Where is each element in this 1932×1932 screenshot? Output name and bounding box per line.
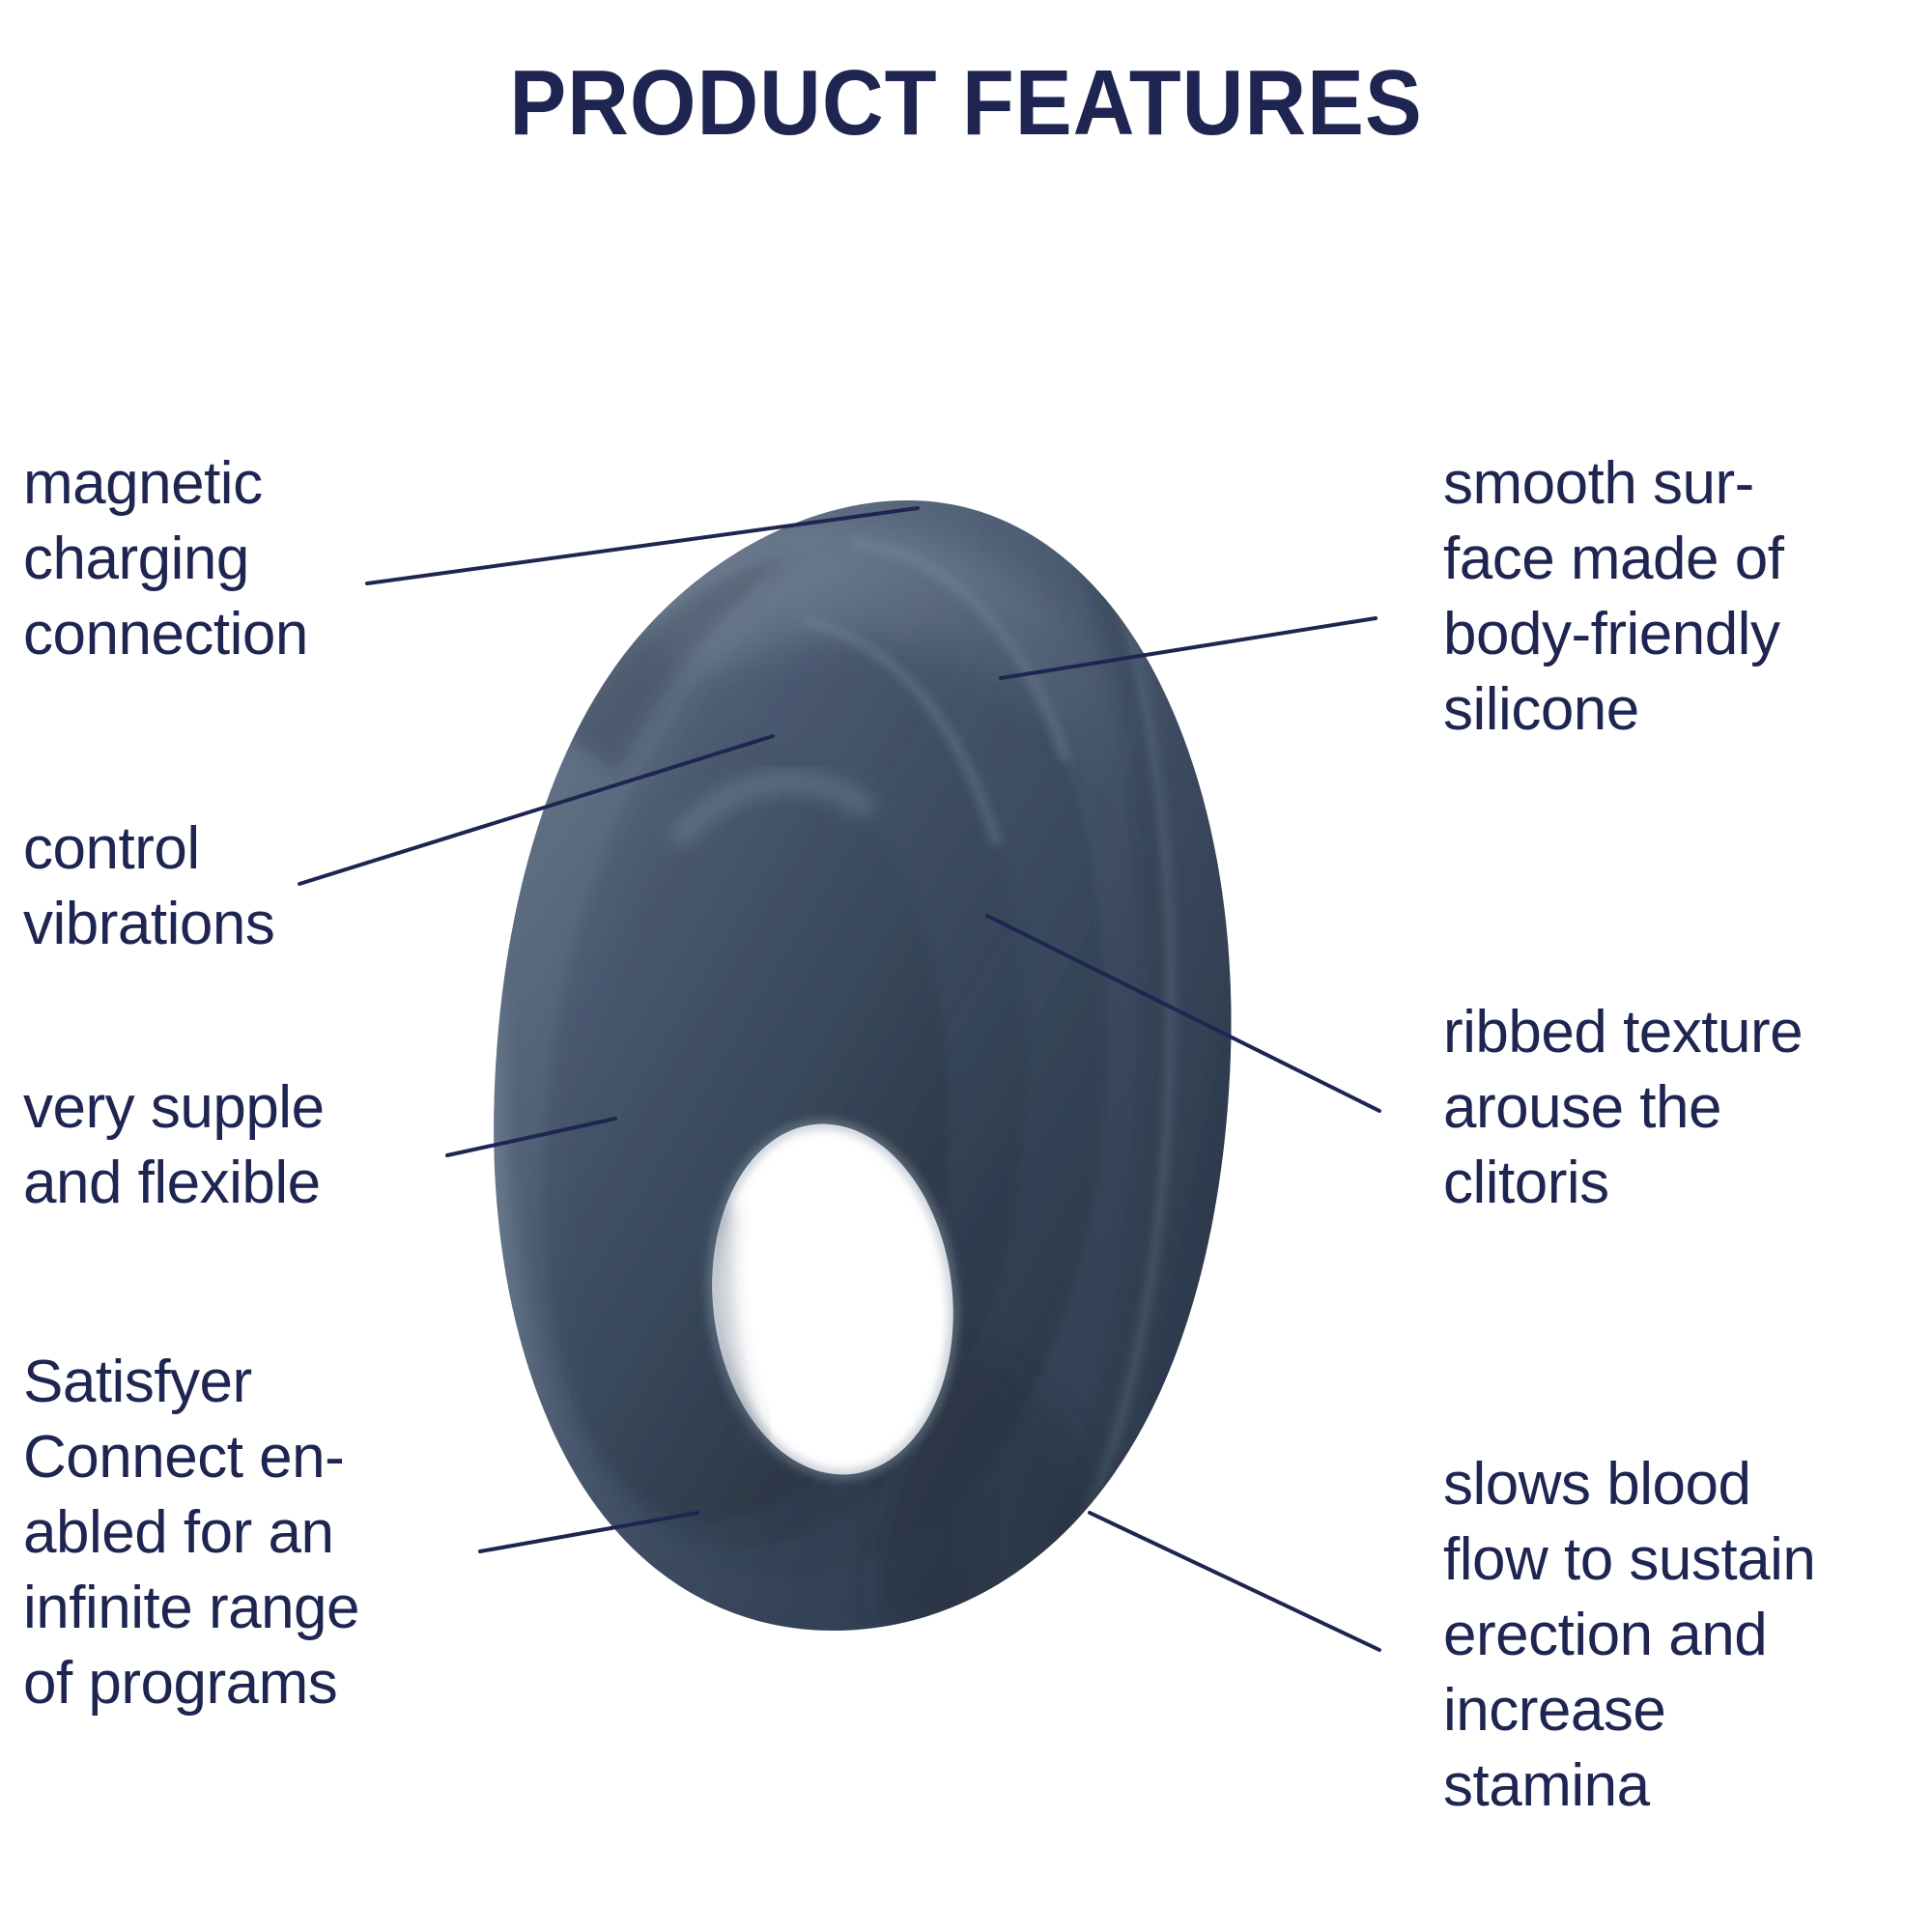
callout-smooth-surface-silicone: smooth sur- face made of body-friendly s… — [1443, 446, 1917, 748]
callout-very-supple-and-flexible: very supple and flexible — [23, 1070, 468, 1221]
callout-satisfyer-connect: Satisfyer Connect en- abled for an infin… — [23, 1345, 477, 1721]
product-body — [486, 500, 1275, 1642]
product-features-infographic: PRODUCT FEATURES — [0, 0, 1932, 1932]
callout-ribbed-texture-clitoris: ribbed texture arouse the clitoris — [1443, 995, 1917, 1221]
callout-control-vibrations: control vibrations — [23, 811, 429, 962]
callout-magnetic-charging-connection: magnetic charging connection — [23, 446, 429, 672]
callout-slows-blood-flow: slows blood flow to sustain erection and… — [1443, 1447, 1926, 1824]
